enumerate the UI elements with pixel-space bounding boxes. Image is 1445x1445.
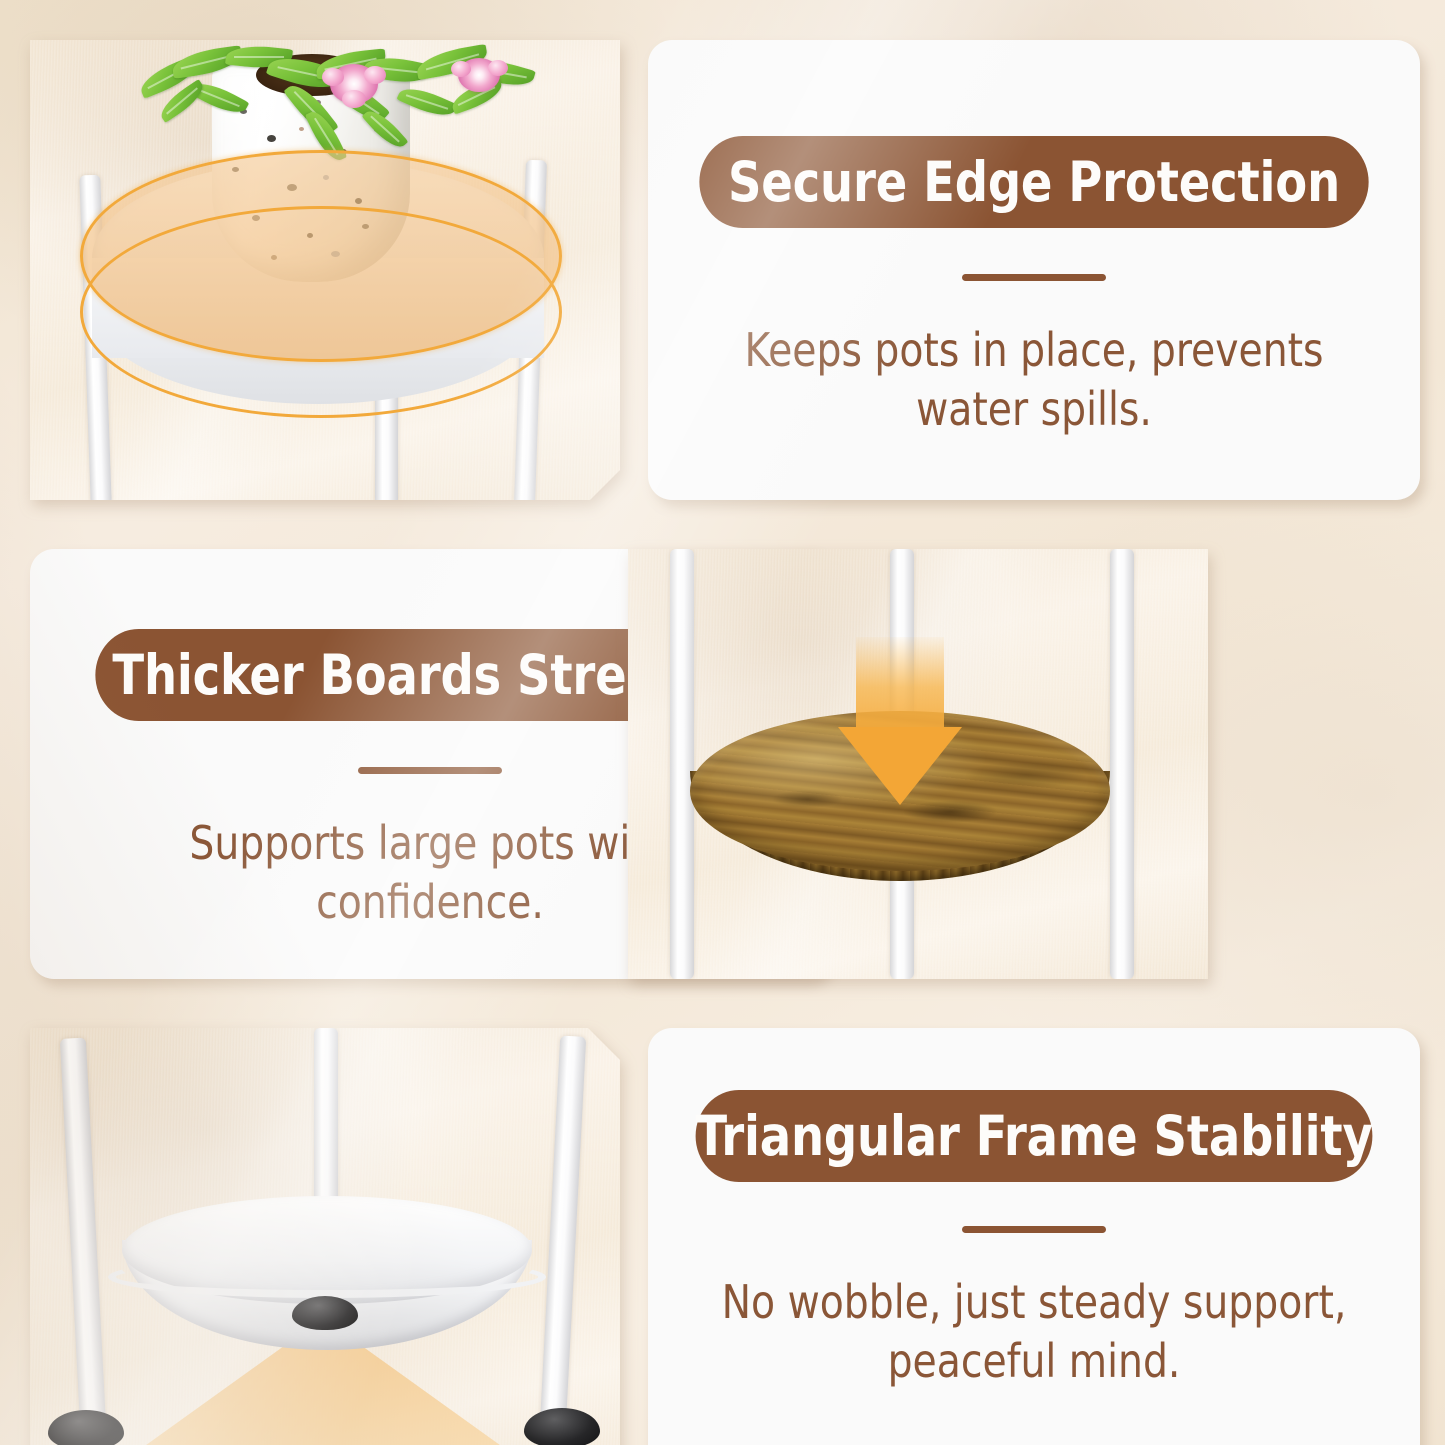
triangular-base-photo [30,1028,620,1445]
feature-description: Keeps pots in place, prevents water spil… [730,321,1338,439]
wooden-board-thickness-photo [628,549,1208,979]
pink-flower-1 [330,64,378,104]
orange-down-arrow-head [838,727,962,805]
feature-title-pill: Secure Edge Protection [699,136,1368,228]
title-divider [962,274,1106,281]
photo-clip [30,40,620,500]
frame-post-left [670,549,694,979]
feature-title-pill: Triangular Frame Stability [696,1090,1373,1182]
orange-ring-highlight-lower [80,206,562,418]
lower-tray-support-ring [108,1256,546,1298]
infographic-page: Secure Edge Protection Keeps pots in pla… [0,0,1445,1445]
photo-clip [30,1028,620,1445]
pink-flower-2 [458,58,500,92]
planter-tray-edge-photo [30,40,620,500]
frame-post-right [1110,549,1134,979]
feature-description: No wobble, just steady support, peaceful… [702,1273,1367,1391]
title-divider [962,1226,1106,1233]
feature-card-triangular-frame-stability: Triangular Frame Stability No wobble, ju… [648,1028,1420,1445]
rubber-foot-center [292,1296,358,1330]
feature-card-secure-edge-protection: Secure Edge Protection Keeps pots in pla… [648,40,1420,500]
photo-clip [628,549,1208,979]
feature-grid: Secure Edge Protection Keeps pots in pla… [30,40,1420,1412]
title-divider [358,767,502,774]
